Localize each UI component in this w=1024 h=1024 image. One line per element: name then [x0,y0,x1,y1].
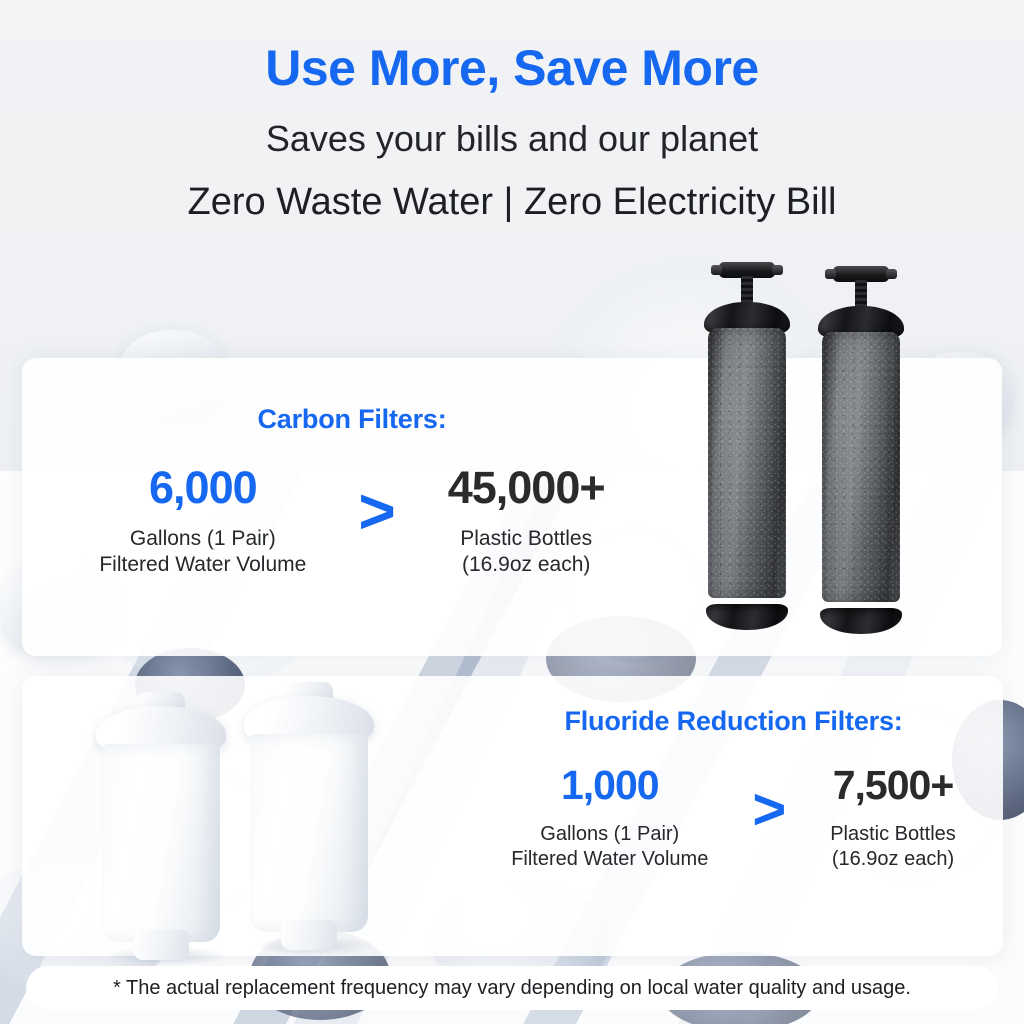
carbon-filter-unit-1 [704,262,790,630]
carbon-bottom-base [820,608,902,634]
carbon-bottles-line2: (16.9oz each) [448,552,605,578]
fluoride-filter-unit-2 [244,682,374,932]
fluoride-filter-body [102,744,220,942]
page-title: Use More, Save More [0,42,1024,95]
fluoride-filter-unit-1 [96,692,226,942]
carbon-filter-body [822,332,900,602]
infographic-page: Use More, Save More Saves your bills and… [0,0,1024,1024]
card-fluoride-comparison-row: 1,000 Gallons (1 Pair) Filtered Water Vo… [442,765,1024,872]
carbon-gallons-line1: Gallons (1 Pair) [99,526,306,552]
fluoride-filter-product-group [78,672,408,962]
fluoride-stat-bottles: 7,500+ Plastic Bottles (16.9oz each) [830,765,956,872]
card-carbon-comparison-row: 6,000 Gallons (1 Pair) Filtered Water Vo… [22,465,682,579]
fluoride-bottom-foot [133,930,189,960]
carbon-filter-unit-2 [818,266,904,634]
carbon-stat-gallons: 6,000 Gallons (1 Pair) Filtered Water Vo… [99,465,306,579]
carbon-gallons-value: 6,000 [99,465,306,510]
header-block: Use More, Save More Saves your bills and… [0,0,1024,224]
card-carbon-content: Carbon Filters: 6,000 Gallons (1 Pair) F… [22,404,682,579]
carbon-stat-bottles: 45,000+ Plastic Bottles (16.9oz each) [448,465,605,579]
fluoride-gallons-value: 1,000 [511,765,708,806]
footer-disclaimer: * The actual replacement frequency may v… [113,977,911,1000]
fluoride-filter-body [250,734,368,932]
carbon-filter-product-group [690,252,940,662]
fluoride-stat-gallons: 1,000 Gallons (1 Pair) Filtered Water Vo… [511,765,708,872]
greater-than-icon: > [752,781,786,839]
card-fluoride-title: Fluoride Reduction Filters: [442,706,1024,737]
card-carbon-title: Carbon Filters: [22,404,682,435]
footer-band: * The actual replacement frequency may v… [26,966,998,1010]
fluoride-bottles-line2: (16.9oz each) [830,847,956,872]
greater-than-icon: > [358,479,395,543]
carbon-filter-body [708,328,786,598]
fluoride-bottles-line1: Plastic Bottles [830,822,956,847]
fluoride-gallons-line2: Filtered Water Volume [511,847,708,872]
carbon-bottles-line1: Plastic Bottles [448,526,605,552]
carbon-bottles-value: 45,000+ [448,465,605,510]
page-tagline: Zero Waste Water | Zero Electricity Bill [0,182,1024,224]
card-fluoride-content: Fluoride Reduction Filters: 1,000 Gallon… [442,706,1024,872]
carbon-bottom-base [706,604,788,630]
fluoride-bottles-value: 7,500+ [830,765,956,806]
fluoride-bottom-foot [281,920,337,950]
page-subtitle: Saves your bills and our planet [0,119,1024,159]
fluoride-gallons-line1: Gallons (1 Pair) [511,822,708,847]
carbon-gallons-line2: Filtered Water Volume [99,552,306,578]
